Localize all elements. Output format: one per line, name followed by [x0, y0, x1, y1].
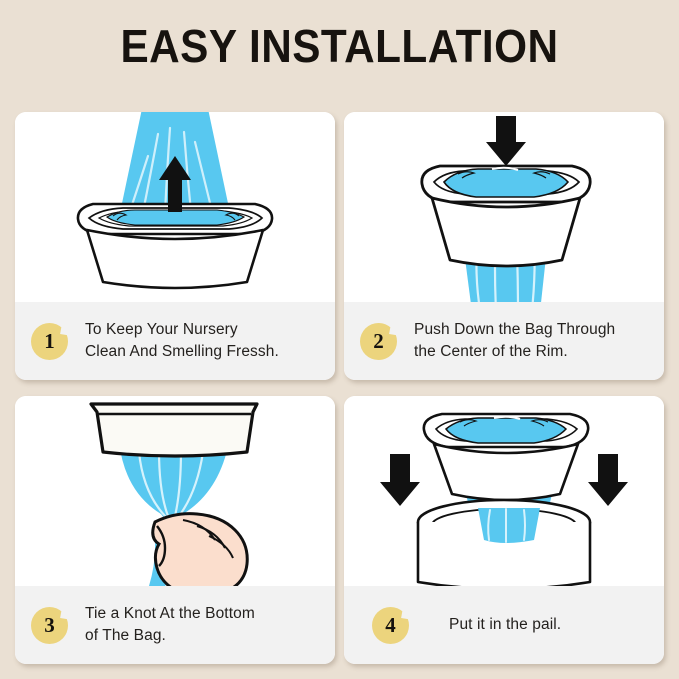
- step-card-3: 3 Tie a Knot At the Bottom of The Bag.: [15, 396, 335, 664]
- step-2-text: Push Down the Bag Through the Center of …: [414, 319, 615, 363]
- steps-grid: 1 To Keep Your Nursery Clean And Smellin…: [15, 112, 664, 664]
- down-arrow-right-icon: [588, 454, 628, 506]
- step-3-text: Tie a Knot At the Bottom of The Bag.: [85, 603, 255, 647]
- step-card-2: 2 Push Down the Bag Through the Center o…: [344, 112, 664, 380]
- bag-pushed-down-through-rim-graphic: [344, 112, 664, 302]
- hand-tying-knot-in-bag-graphic: [15, 396, 335, 586]
- infographic-page: EASY INSTALLATION: [0, 0, 679, 679]
- step-card-4: 4 Put it in the pail.: [344, 396, 664, 664]
- step-2-footer: 2 Push Down the Bag Through the Center o…: [344, 302, 664, 380]
- step-4-footer: 4 Put it in the pail.: [344, 586, 664, 664]
- pail-insert-into-bin-graphic: [344, 396, 664, 586]
- step-number-badge-3: 3: [31, 607, 68, 644]
- step-4-text: Put it in the pail.: [449, 614, 561, 636]
- step-2-illustration: [344, 112, 664, 302]
- step-card-1: 1 To Keep Your Nursery Clean And Smellin…: [15, 112, 335, 380]
- step-1-text: To Keep Your Nursery Clean And Smelling …: [85, 319, 279, 363]
- down-arrow-left-icon: [380, 454, 420, 506]
- hand-icon: [153, 514, 248, 586]
- bag-pulled-up-from-pail-graphic: [15, 112, 335, 302]
- page-title: EASY INSTALLATION: [27, 23, 652, 69]
- down-arrow-icon: [486, 116, 526, 166]
- step-3-illustration: [15, 396, 335, 586]
- step-4-illustration: [344, 396, 664, 586]
- step-1-illustration: [15, 112, 335, 302]
- step-1-footer: 1 To Keep Your Nursery Clean And Smellin…: [15, 302, 335, 380]
- step-number-badge-2: 2: [360, 323, 397, 360]
- step-3-footer: 3 Tie a Knot At the Bottom of The Bag.: [15, 586, 335, 664]
- step-number-badge-4: 4: [372, 607, 409, 644]
- step-number-badge-1: 1: [31, 323, 68, 360]
